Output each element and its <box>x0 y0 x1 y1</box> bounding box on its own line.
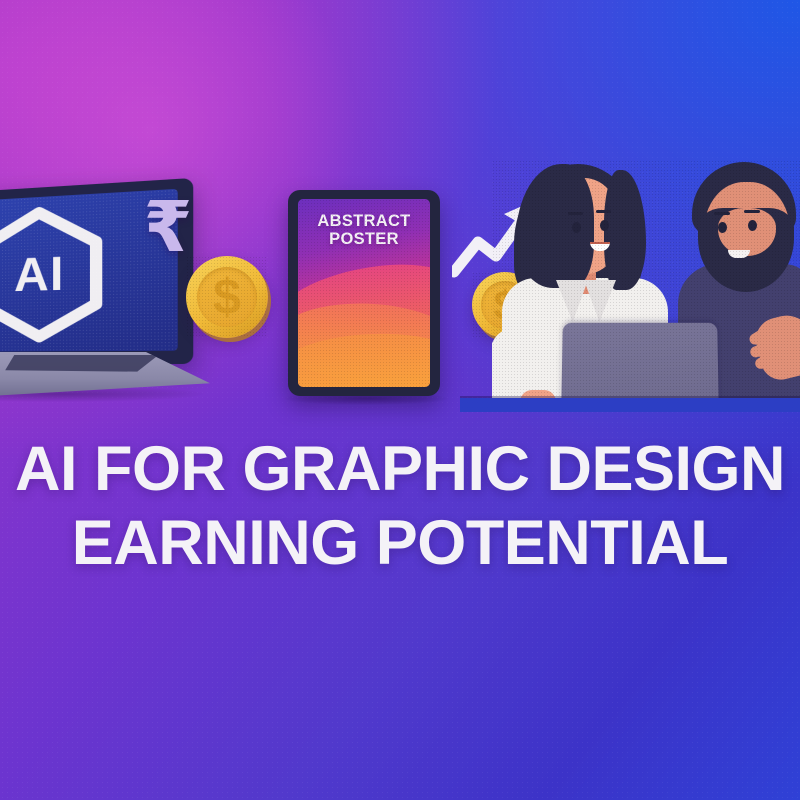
man-eyebrow-right <box>744 210 760 213</box>
title-line-2: EARNING POTENTIAL <box>0 506 800 580</box>
woman-eyebrow-left <box>568 212 583 215</box>
man-eye-left <box>718 222 727 233</box>
laptop-keyboard <box>5 355 159 373</box>
rupee-icon: ₹ <box>140 188 196 266</box>
ai-logo-label: AI <box>0 201 107 344</box>
ai-hexagon-icon: AI <box>0 201 107 344</box>
poster-title-line1: ABSTRACT <box>298 212 430 230</box>
poster-title: ABSTRACT POSTER <box>298 212 430 249</box>
man-finger-3 <box>755 355 782 370</box>
thumbnail-canvas: AI ₹ $ ABSTRACT POSTER <box>0 0 800 800</box>
dollar-sign-glyph: $ <box>186 256 268 338</box>
woman-hair-front <box>516 164 594 288</box>
woman-eye-right <box>600 220 609 231</box>
page-title: AI FOR GRAPHIC DESIGN EARNING POTENTIAL <box>0 432 800 580</box>
title-line-1: AI FOR GRAPHIC DESIGN <box>15 434 785 504</box>
poster-artwork: ABSTRACT POSTER <box>298 199 430 387</box>
gold-coin-icon: $ <box>186 256 268 338</box>
laptop-base-surface <box>0 352 210 398</box>
man-eyebrow-left <box>714 212 730 215</box>
desk-surface <box>460 398 800 412</box>
poster-tablet: ABSTRACT POSTER <box>288 190 440 396</box>
woman-hair-side <box>604 170 646 290</box>
poster-title-line2: POSTER <box>298 230 430 248</box>
woman-eyebrow-right <box>596 210 611 213</box>
people-illustration <box>492 160 800 408</box>
woman-eye-left <box>572 222 581 233</box>
man-eye-right <box>748 220 757 231</box>
laptop-base <box>0 352 210 398</box>
